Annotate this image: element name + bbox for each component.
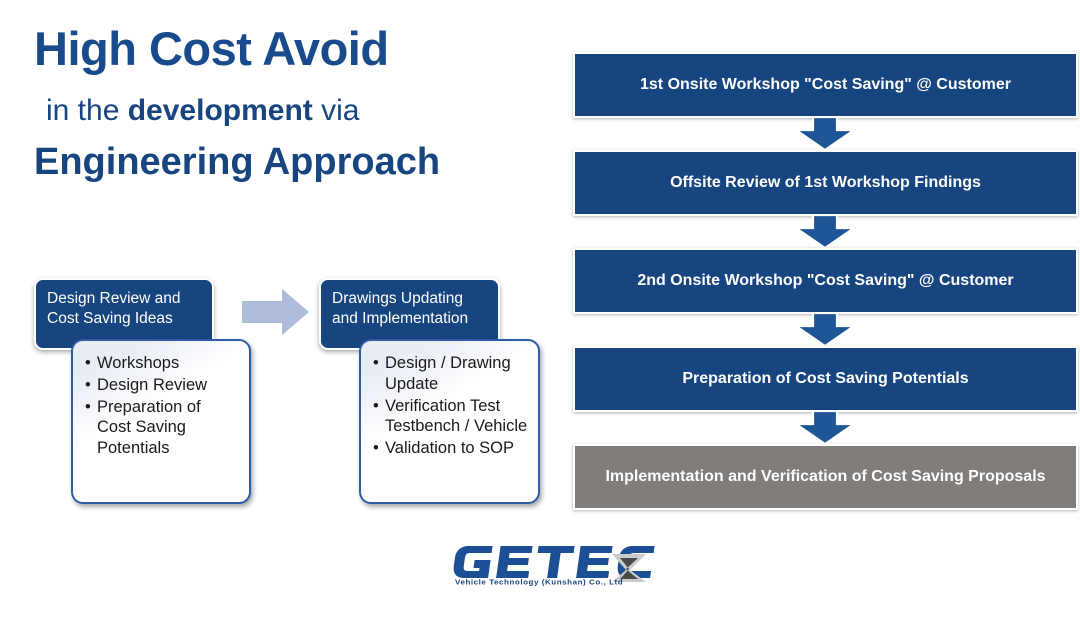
logo: Vehicle Technology (Kunshan) Co., Ltd [450,536,655,598]
down-arrow-icon [795,117,855,151]
down-arrow-icon [795,411,855,445]
page-subtitle-emphasis: development [128,94,313,127]
callout-list: Design / Drawing Update Verification Tes… [373,353,528,459]
list-item: Preparation of Cost Saving Potentials [85,397,239,459]
list-item: Design / Drawing Update [373,353,528,395]
flow-connector-1 [573,118,1078,150]
down-arrow-icon [795,313,855,347]
callout-body: Design / Drawing Update Verification Tes… [359,339,540,504]
page-subtitle-prefix: in the [46,94,128,127]
page-subtitle-suffix: via [313,94,360,127]
list-item: Validation to SOP [373,438,528,459]
flow-step-1: 1st Onsite Workshop "Cost Saving" @ Cust… [573,52,1078,118]
page-subtitle: in the development via [46,92,554,130]
flow-step-5: Implementation and Verification of Cost … [573,444,1078,510]
list-item: Workshops [85,353,239,374]
callout-group-drawings-updating: Drawings Updating and Implementation Des… [319,278,544,504]
page-title-secondary: Engineering Approach [34,140,554,186]
logo-tagline: Vehicle Technology (Kunshan) Co., Ltd [455,578,623,586]
right-arrow-icon [242,288,310,336]
callout-body: Workshops Design Review Preparation of C… [71,339,251,504]
flow-step-4: Preparation of Cost Saving Potentials [573,346,1078,412]
down-arrow-icon [795,215,855,249]
callout-list: Workshops Design Review Preparation of C… [85,353,239,459]
list-item: Design Review [85,375,239,396]
page-title-block: High Cost Avoid in the development via E… [34,22,554,185]
page-title: High Cost Avoid [34,22,554,76]
list-item: Verification Test Testbench / Vehicle [373,396,528,438]
flow-connector-4 [573,412,1078,444]
process-flowchart: 1st Onsite Workshop "Cost Saving" @ Cust… [573,52,1078,510]
flow-step-3: 2nd Onsite Workshop "Cost Saving" @ Cust… [573,248,1078,314]
flow-connector-3 [573,314,1078,346]
flow-connector-2 [573,216,1078,248]
flow-step-2: Offsite Review of 1st Workshop Findings [573,150,1078,216]
